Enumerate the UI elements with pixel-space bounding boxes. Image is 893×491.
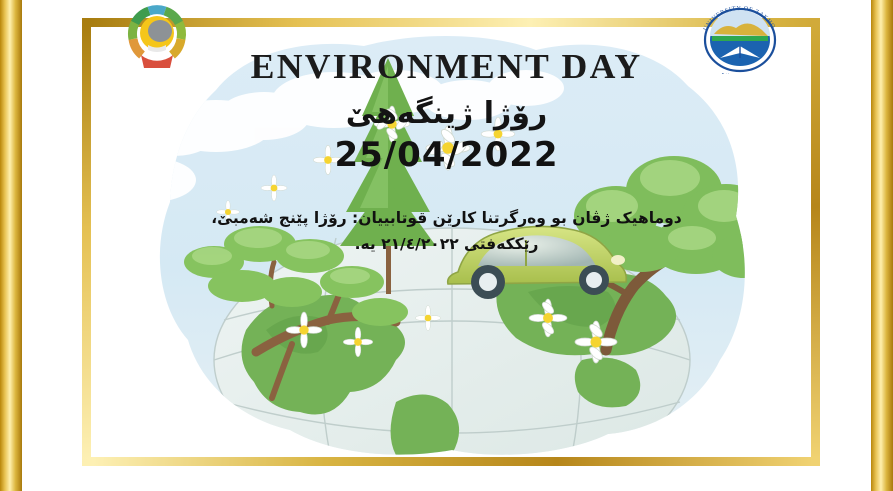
page-title-kurdish: رۆژا ژینگەهێ	[0, 96, 893, 131]
page-title-english: ENVIRONMENT DAY	[0, 47, 893, 87]
announcement-text: دوماهیک ژڤان بو وەرگرتنا کارێن قوتابییان…	[100, 205, 793, 257]
event-date: 25/04/2022	[0, 135, 893, 175]
announcement-line-1: دوماهیک ژڤان بو وەرگرتنا کارێن قوتابییان…	[100, 205, 793, 231]
announcement-line-2: رێککەفتی ٢١/٤/٢٠٢٢ یە.	[100, 231, 793, 257]
poster-root: UNIVERSITY OF ZAKHO زانكویا زاخو ENVIRON…	[0, 0, 893, 491]
